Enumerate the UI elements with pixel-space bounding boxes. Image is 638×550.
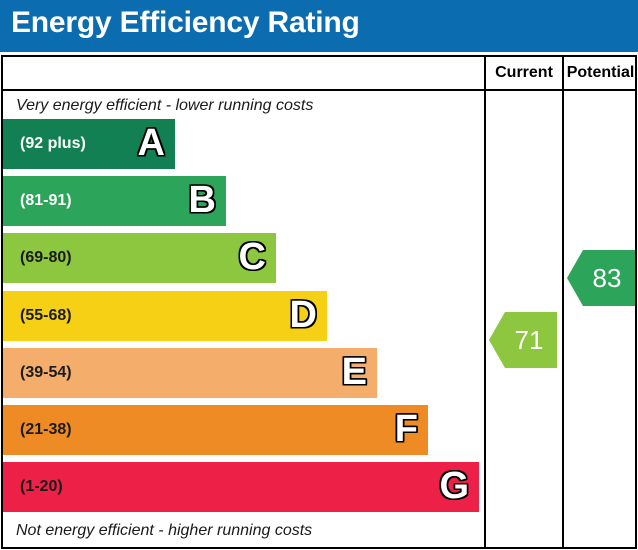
band-letter-label: E (342, 348, 367, 398)
band-letter-label: G (439, 462, 469, 512)
rating-band-d: (55-68)D (3, 291, 327, 341)
rating-band-b: (81-91)B (3, 176, 226, 226)
band-letter-label: F (395, 405, 418, 455)
band-range-label: (21-38) (20, 405, 72, 455)
rating-band-a: (92 plus)A (3, 119, 175, 169)
rating-band-f: (21-38)F (3, 405, 428, 455)
potential-rating-marker: 83 (567, 250, 635, 306)
potential-rating-value: 83 (567, 250, 635, 306)
band-range-label: (39-54) (20, 348, 72, 398)
band-letter-label: D (290, 291, 317, 341)
energy-efficiency-rating-chart: Energy Efficiency Rating Current Potenti… (0, 0, 638, 550)
caption-bottom: Not energy efficient - higher running co… (16, 522, 312, 540)
potential-column-divider (562, 57, 564, 547)
band-range-label: (92 plus) (20, 119, 86, 169)
rating-band-c: (69-80)C (3, 233, 276, 283)
chart-title-bar: Energy Efficiency Rating (0, 0, 638, 52)
band-range-label: (55-68) (20, 291, 72, 341)
band-letter-label: B (189, 176, 216, 226)
band-range-label: (69-80) (20, 233, 72, 283)
page-title: Energy Efficiency Rating (11, 6, 360, 40)
band-letter-label: A (138, 119, 165, 169)
potential-column-header: Potential (564, 57, 637, 89)
band-range-label: (81-91) (20, 176, 72, 226)
band-range-label: (1-20) (20, 462, 63, 512)
current-column-header: Current (486, 57, 562, 89)
chart-table-frame: Current Potential Very energy efficient … (1, 55, 637, 549)
current-column-divider (484, 57, 486, 547)
caption-top: Very energy efficient - lower running co… (16, 97, 313, 115)
rating-band-e: (39-54)E (3, 348, 377, 398)
rating-band-g: (1-20)G (3, 462, 479, 512)
band-letter-label: C (239, 233, 266, 283)
current-rating-value: 71 (489, 312, 557, 368)
current-rating-marker: 71 (489, 312, 557, 368)
header-divider-line (3, 89, 635, 91)
rating-bands: (92 plus)A(81-91)B(69-80)C(55-68)D(39-54… (3, 119, 484, 519)
